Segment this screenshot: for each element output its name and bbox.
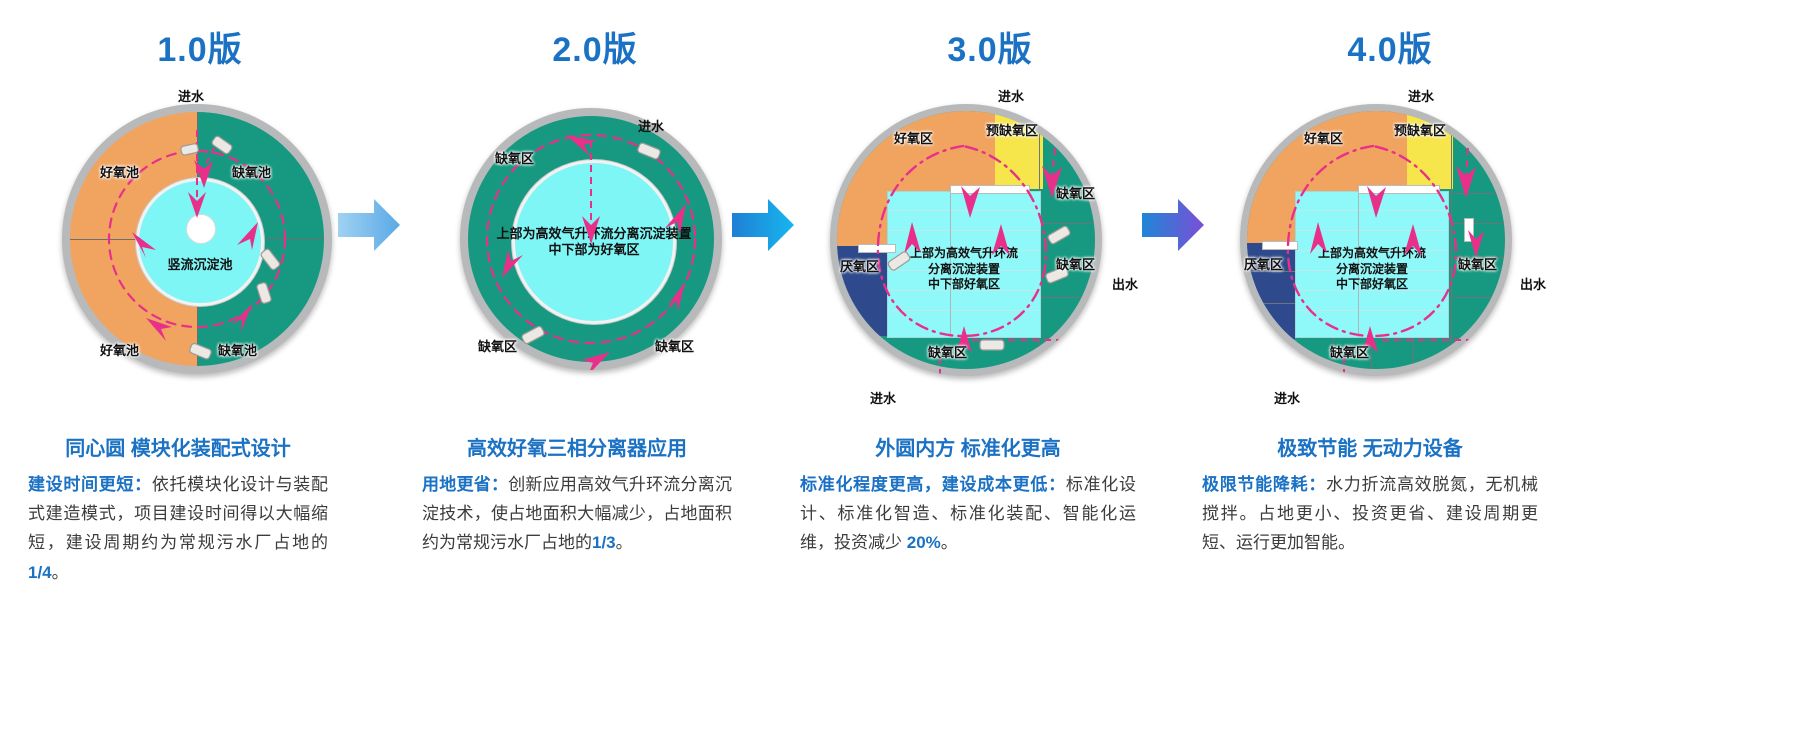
inner-pool-label-v3-line3: 中下部好氧区 — [888, 277, 1040, 293]
div-bottom-c2-v4 — [1371, 336, 1372, 369]
zone-label-pre-anoxic-v3: 预缺氧区 — [986, 120, 1038, 139]
div-right-4-v4 — [1451, 297, 1505, 298]
inlet-label-v1: 进水 — [178, 86, 204, 105]
zone-label-anoxic-tl-v2: 缺氧区 — [495, 148, 534, 167]
inner-rect-pool-v4: 上部为高效气升环流 分离沉淀装置 中下部好氧区 — [1295, 191, 1449, 338]
caption-tail-v2: 。 — [616, 533, 633, 552]
zone-label-anoxic-tr: 缺氧池 — [232, 162, 271, 181]
weir-left-v4 — [1262, 241, 1298, 250]
caption-v2: 高效好氧三相分离器应用 用地更省：创新应用高效气升环流分离沉淀技术，使占地面积大… — [422, 432, 732, 558]
inlet-label-v4: 进水 — [1408, 86, 1434, 105]
caption-title-v3: 外圆内方 标准化更高 — [800, 432, 1136, 461]
inner-rect-pool-v3: 上部为高效气升环流 分离沉淀装置 中下部好氧区 — [887, 191, 1041, 338]
center-pool-label-v2-line1: 上部为高效气升环流分离沉淀装置 — [497, 226, 692, 242]
inlet-label-bottom-v4: 进水 — [1274, 388, 1300, 407]
caption-v4: 极致节能 无动力设备 极限节能降耗：水力折流高效脱氮，无机械搅拌。占地更小、投资… — [1202, 432, 1538, 558]
caption-body-v3: 标准化程度更高，建设成本更低：标准化设计、标准化智造、标准化装配、智能化运维，投… — [800, 470, 1136, 558]
center-pool-label-v2-line2: 中下部为好氧区 — [497, 242, 692, 258]
caption-tail-v3: 。 — [941, 533, 958, 552]
caption-lead-v2: 用地更省： — [422, 475, 508, 494]
zone-label-anoxic-bottom-v4: 缺氧区 — [1330, 342, 1369, 361]
div-right-1-v4 — [1451, 193, 1505, 194]
weir-right-v4 — [1464, 218, 1474, 242]
panel-v4: 4.0版 — [1190, 0, 1590, 729]
zone-aerobic-v3 — [837, 111, 995, 191]
zone-label-aerobic-v4: 好氧区 — [1304, 128, 1343, 147]
center-settling-pool-v1: 竖流沉淀池 — [136, 178, 264, 306]
div-bottom-c3-v4 — [1413, 336, 1414, 369]
divider-bottom-v3 — [1039, 297, 1095, 298]
caption-title-v4: 极致节能 无动力设备 — [1202, 432, 1538, 461]
pool-hub — [186, 214, 216, 244]
caption-body-v1: 建设时间更短：依托模块化设计与装配式建造模式，项目建设时间得以大幅缩短，建设周期… — [28, 470, 328, 587]
zone-label-anoxic-right-v4: 缺氧区 — [1458, 254, 1497, 273]
diagram-v3: 上部为高效气升环流 分离沉淀装置 中下部好氧区 — [790, 78, 1190, 408]
zone-aerobic-left-v3 — [837, 191, 887, 246]
zone-label-anoxic-br-v2: 缺氧区 — [655, 336, 694, 355]
step-arrow-1-2 — [336, 196, 402, 254]
caption-tail-v1: 。 — [52, 563, 69, 582]
divider-right-v3 — [1037, 223, 1095, 224]
zone-label-anoxic-right-lower-v3: 缺氧区 — [1056, 254, 1095, 273]
diagram-board: 1.0版 竖流沉淀池 — [0, 0, 1794, 729]
weir-left-v3 — [858, 244, 896, 253]
panel-v2: 2.0版 上部为高效气升环流分离沉淀装置 中下部为好氧区 — [400, 0, 790, 729]
caption-highlight-v3: 20% — [907, 533, 941, 552]
zone-label-anoxic-bottom-v3: 缺氧区 — [928, 342, 967, 361]
inner-pool-label-v4-line2: 分离沉淀装置 — [1296, 262, 1448, 278]
panel-title-v4: 4.0版 — [1190, 22, 1590, 71]
div-vertical-right-v4 — [1451, 111, 1452, 369]
zone-label-aerobic-bl: 好氧池 — [100, 340, 139, 359]
caption-lead-v1: 建设时间更短： — [28, 475, 152, 494]
zone-label-anoxic-right-upper-v3: 缺氧区 — [1056, 183, 1095, 202]
inner-pool-label-v3-line1: 上部为高效气升环流 — [888, 246, 1040, 262]
panel-title-v1: 1.0版 — [0, 22, 400, 71]
center-pool-v2: 上部为高效气升环流分离沉淀装置 中下部为好氧区 — [512, 160, 676, 324]
tank-shell-v3: 上部为高效气升环流 分离沉淀装置 中下部好氧区 — [830, 104, 1102, 376]
inner-pool-label-v4: 上部为高效气升环流 分离沉淀装置 中下部好氧区 — [1296, 246, 1448, 293]
center-pool-label-v2: 上部为高效气升环流分离沉淀装置 中下部为好氧区 — [493, 226, 696, 259]
zone-aerobic-left-v4 — [1247, 191, 1295, 243]
outlet-label-v4: 出水 — [1520, 274, 1546, 293]
inlet-label-v3: 进水 — [998, 86, 1024, 105]
step-arrow-2-3 — [730, 196, 796, 254]
panel-v1: 1.0版 竖流沉淀池 — [0, 0, 400, 729]
caption-lead-v3: 标准化程度更高，建设成本更低： — [800, 475, 1066, 494]
weir-top-v4 — [1358, 185, 1440, 194]
caption-body-v2: 用地更省：创新应用高效气升环流分离沉淀技术，使占地面积大幅减少，占地面积约为常规… — [422, 470, 732, 558]
caption-v3: 外圆内方 标准化更高 标准化程度更高，建设成本更低：标准化设计、标准化智造、标准… — [800, 432, 1136, 558]
caption-title-v1: 同心圆 模块化装配式设计 — [28, 432, 328, 461]
div-left-2-v4 — [1247, 303, 1295, 304]
caption-v1: 同心圆 模块化装配式设计 建设时间更短：依托模块化设计与装配式建造模式，项目建设… — [28, 432, 328, 587]
inner-pool-label-v3: 上部为高效气升环流 分离沉淀装置 中下部好氧区 — [888, 246, 1040, 293]
inner-pool-label-v4-line1: 上部为高效气升环流 — [1296, 246, 1448, 262]
diagram-v4: 上部为高效气升环流 分离沉淀装置 中下部好氧区 — [1190, 78, 1590, 408]
caption-lead-v4: 极限节能降耗： — [1202, 475, 1326, 494]
inner-pool-label-v4-line3: 中下部好氧区 — [1296, 277, 1448, 293]
zone-label-anaerobic-v4: 厌氧区 — [1244, 254, 1283, 273]
center-pool-label-v1: 竖流沉淀池 — [139, 257, 261, 273]
zone-aerobic-v4 — [1247, 111, 1407, 191]
panel-title-v2: 2.0版 — [400, 22, 790, 71]
zone-label-anoxic-br: 缺氧池 — [218, 340, 257, 359]
panel-v3: 3.0版 — [790, 0, 1190, 729]
weir-top-v3 — [950, 185, 1030, 194]
caption-highlight-v2: 1/3 — [592, 533, 616, 552]
caption-title-v2: 高效好氧三相分离器应用 — [422, 432, 732, 461]
zone-label-aerobic-v3: 好氧区 — [894, 128, 933, 147]
inlet-label-bottom-v3: 进水 — [870, 388, 896, 407]
div-right-2-v4 — [1451, 223, 1505, 224]
caption-body-v4: 极限节能降耗：水力折流高效脱氮，无机械搅拌。占地更小、投资更省、建设周期更短、运… — [1202, 470, 1538, 558]
zone-label-anaerobic-v3: 厌氧区 — [840, 256, 879, 275]
inner-pool-label-v3-line2: 分离沉淀装置 — [888, 262, 1040, 278]
panel-title-v3: 3.0版 — [790, 22, 1190, 71]
tank-shell-v1: 竖流沉淀池 — [62, 104, 332, 374]
caption-highlight-v1: 1/4 — [28, 563, 52, 582]
zone-label-pre-anoxic-v4: 预缺氧区 — [1394, 120, 1446, 139]
zone-label-aerobic-tl: 好氧池 — [100, 162, 139, 181]
inlet-label-v2: 进水 — [638, 116, 664, 135]
outlet-label-v3: 出水 — [1112, 274, 1138, 293]
tank-shell-v4: 上部为高效气升环流 分离沉淀装置 中下部好氧区 — [1240, 104, 1512, 376]
zone-label-anoxic-bl-v2: 缺氧区 — [478, 336, 517, 355]
